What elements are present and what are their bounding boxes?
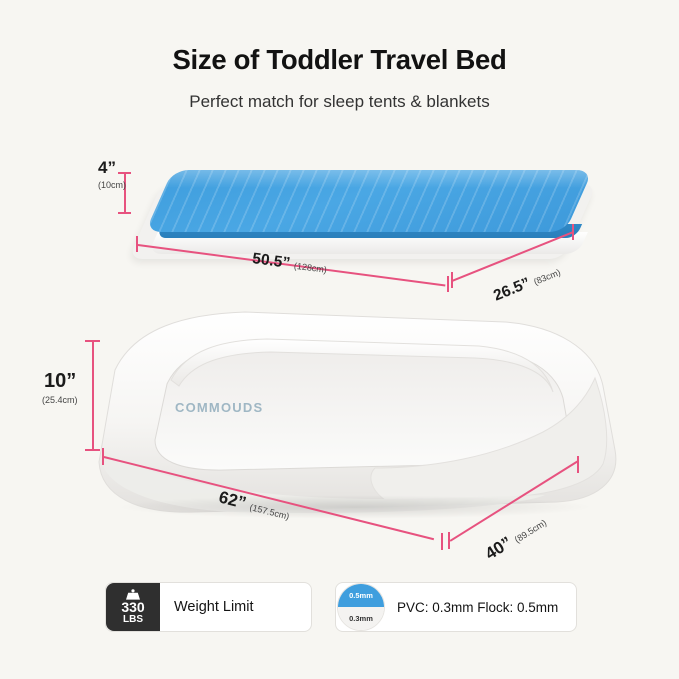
material-layer-icon: 0.5mm 0.3mm	[337, 583, 385, 631]
material-bottom-layer: 0.3mm	[338, 607, 384, 630]
bed-length-tick-right	[441, 533, 443, 550]
bed-width-tick-right	[577, 456, 579, 473]
mattress-length-metric: (128cm)	[293, 261, 327, 275]
mattress-sheen	[165, 170, 593, 188]
mattress-height-line	[124, 172, 126, 214]
infographic-stage: Size of Toddler Travel Bed Perfect match…	[0, 0, 679, 679]
bed-width-tick-left	[448, 532, 450, 549]
mattress-height-metric: (10cm)	[98, 180, 126, 190]
material-top-layer: 0.5mm	[338, 584, 384, 607]
material-bottom-value: 0.3mm	[349, 614, 373, 623]
weight-limit-badge: 330 LBS Weight Limit	[105, 582, 312, 632]
bed-shadow	[115, 495, 595, 519]
weight-limit-label: Weight Limit	[160, 599, 254, 615]
bed-height-label: 10”	[44, 370, 76, 393]
material-label: PVC: 0.3mm Flock: 0.5mm	[385, 600, 558, 615]
weight-unit: LBS	[123, 615, 143, 625]
weight-icon: 330 LBS	[106, 583, 160, 631]
bed-height-tick-bottom	[85, 449, 100, 451]
mattress-length-tick-left	[136, 236, 138, 252]
weight-value: 330	[121, 600, 144, 614]
mattress-height-tick-bottom	[118, 212, 131, 214]
mattress-length-value: 50.5”	[251, 250, 291, 272]
bed-length-tick-left	[102, 448, 104, 465]
bed-height-line	[92, 340, 94, 450]
mattress-width-tick-left	[451, 272, 453, 288]
mattress-height-label: 4”	[98, 158, 116, 178]
material-top-value: 0.5mm	[349, 591, 373, 600]
page-title: Size of Toddler Travel Bed	[0, 44, 679, 76]
mattress-width-tick-right	[572, 224, 574, 240]
mattress-height-tick-top	[118, 172, 131, 174]
mattress-blue-top	[145, 170, 593, 232]
bed-height-value: 10”	[44, 370, 76, 392]
page-subtitle: Perfect match for sleep tents & blankets	[0, 92, 679, 112]
mattress-length-tick-right	[447, 276, 449, 292]
toddler-bed-illustration: COMMOUDS	[75, 300, 635, 540]
material-badge: 0.5mm 0.3mm PVC: 0.3mm Flock: 0.5mm	[335, 582, 577, 632]
bed-height-tick-top	[85, 340, 100, 342]
bed-height-metric: (25.4cm)	[42, 395, 78, 405]
brand-logo-text: COMMOUDS	[175, 400, 263, 415]
mattress-height-value: 4”	[98, 158, 116, 177]
